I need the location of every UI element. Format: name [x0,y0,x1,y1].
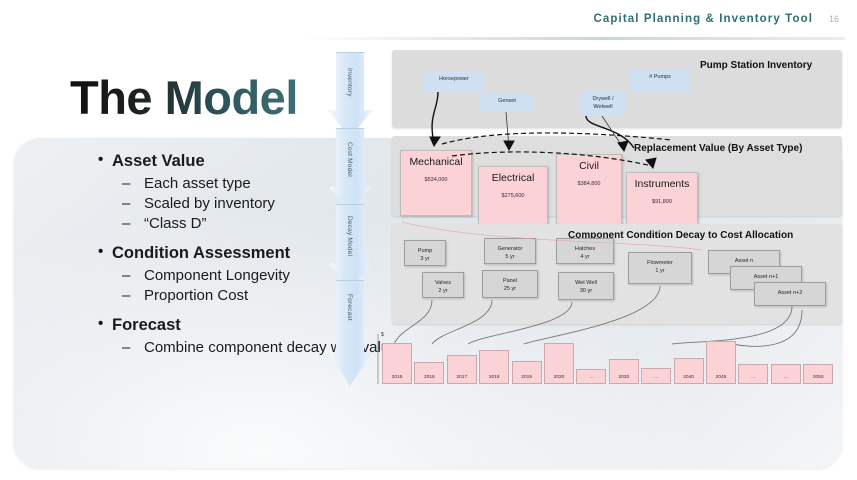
inventory-chip-genset: Genset [480,94,534,112]
chart-bar: … [576,369,606,384]
component-box-valves-life: 2 yr [438,288,447,294]
asset-box-mechanical-name: Mechanical [401,156,471,168]
chart-bar: 2016 [414,362,444,384]
chart-bar: 2018 [479,350,509,384]
process-arrow-label-decay-model: Decay Model [346,216,353,256]
component-box-generator: Generator 5 yr [484,238,536,264]
asset-box-electrical: Electrical $275,600 [478,166,548,232]
chart-bar-label: … [772,375,800,380]
bullet-forecast: Forecast [96,316,346,335]
asset-box-instruments-value: $91,800 [627,199,697,205]
chart-bar-label: … [739,375,767,380]
component-box-wet-well: Wet Well 30 yr [558,272,614,300]
chart-bar: 2045 [706,341,736,384]
chart-bar: 2050 [803,364,833,384]
asset-box-electrical-value: $275,600 [479,193,547,199]
asset-box-mechanical: Mechanical $534,000 [400,150,472,216]
chart-bar-label: … [642,375,670,380]
bullet-combine-decay-value: Combine component decay with value [96,339,346,356]
component-box-hatches-life: 4 yr [580,254,589,260]
inventory-chip-horsepower: Horsepower [424,72,484,92]
bullet-proportion-cost: Proportion Cost [96,287,346,304]
bullet-list: Asset Value Each asset type Scaled by in… [96,152,346,359]
inventory-chip-drywell-wetwell: Drywell / Wetwell [580,92,626,116]
component-box-wet-well-name: Wet Well [575,280,597,286]
component-box-hatches: Hatches 4 yr [556,238,614,264]
inventory-band-title: Pump Station Inventory [700,60,812,71]
component-box-valves: Valves 2 yr [422,272,464,298]
chart-bar: 2020 [544,343,574,384]
component-box-flowmeter-name: Flowmeter [647,260,673,266]
chart-bar-label: 2016 [415,375,443,380]
bullet-asset-value: Asset Value [96,152,346,171]
bullet-component-longevity: Component Longevity [96,267,346,284]
header-divider [300,37,845,40]
chart-bar: 2040 [674,358,704,384]
process-arrow-label-forecast: Forecast [346,294,353,321]
component-box-flowmeter: Flowmeter 1 yr [628,252,692,284]
component-box-generator-name: Generator [498,246,523,252]
bullet-scaled-by-inventory: Scaled by inventory [96,195,346,212]
slide-header: Capital Planning & Inventory Tool 16 [0,0,857,40]
deck-title: Capital Planning & Inventory Tool [594,13,813,25]
asset-stack-box-n2: Asset n+2 [754,282,826,306]
chart-bar-label: 2018 [480,375,508,380]
inventory-chip-num-pumps: # Pumps [630,70,690,92]
component-box-panel-name: Panel [503,278,517,284]
asset-box-civil-name: Civil [557,160,621,172]
component-box-pump-life: 3 yr [420,256,429,262]
asset-box-instruments-name: Instruments [627,178,697,190]
chart-bar: … [738,364,768,384]
chart-bar-label: 2050 [804,375,832,380]
component-box-panel-life: 25 yr [504,286,516,292]
chart-bar: … [771,364,801,384]
chart-bar-label: 2020 [545,375,573,380]
asset-box-mechanical-value: $534,000 [401,177,471,183]
component-box-generator-life: 5 yr [505,254,514,260]
forecast-bar-chart: $ 201520162017201820192020…2030…20402045… [372,328,842,392]
bullet-class-d: “Class D” [96,215,346,232]
process-arrow-label-cost-model: Cost Model [346,142,353,177]
asset-box-civil: Civil $384,800 [556,154,622,226]
page-title: The Model [70,70,298,125]
bullet-condition-assessment: Condition Assessment [96,244,346,263]
chart-bar: 2019 [512,361,542,384]
asset-box-civil-value: $384,800 [557,181,621,187]
replacement-value-band-title: Replacement Value (By Asset Type) [634,143,802,154]
chart-bar: 2015 [382,343,412,384]
process-arrow-label-inventory: Inventory [346,68,353,97]
component-box-pump-name: Pump [418,248,432,254]
chart-bar: 2030 [609,359,639,384]
component-box-flowmeter-life: 1 yr [655,268,664,274]
component-box-hatches-name: Hatches [575,246,595,252]
component-box-valves-name: Valves [435,280,451,286]
component-box-panel: Panel 25 yr [482,270,538,298]
chart-bar-label: 2019 [513,375,541,380]
chart-bar-label: 2015 [383,375,411,380]
page-number: 16 [829,14,839,24]
chart-bar-label: 2045 [707,375,735,380]
component-box-wet-well-life: 30 yr [580,288,592,294]
chart-bar: 2017 [447,355,477,384]
chart-bar-label: … [577,375,605,380]
chart-bar: … [641,368,671,384]
chart-bar-label: 2040 [675,375,703,380]
component-box-pump: Pump 3 yr [404,240,446,266]
asset-box-electrical-name: Electrical [479,172,547,184]
bullet-each-asset-type: Each asset type [96,175,346,192]
slide: Capital Planning & Inventory Tool 16 The… [0,0,857,480]
chart-axis-label: $ [381,332,384,338]
chart-bar-label: 2017 [448,375,476,380]
chart-bar-label: 2030 [610,375,638,380]
